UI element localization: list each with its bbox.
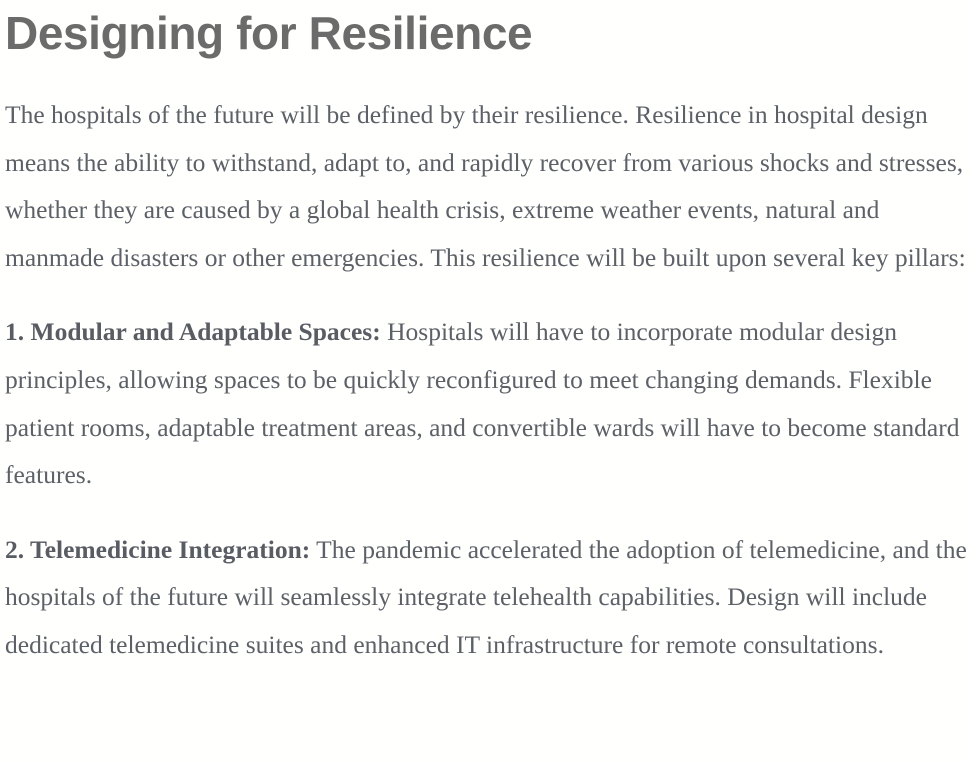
pillar-2-lead-in: 2. Telemedicine Integration: <box>5 535 310 564</box>
pillar-1-lead-in: 1. Modular and Adaptable Spaces: <box>5 317 381 346</box>
page-title: Designing for Resilience <box>5 0 967 62</box>
paragraph-pillar-1: 1. Modular and Adaptable Spaces: Hospita… <box>5 308 967 498</box>
paragraph-intro: The hospitals of the future will be defi… <box>5 91 967 281</box>
paragraph-intro-body: The hospitals of the future will be defi… <box>5 100 966 272</box>
paragraph-pillar-2: 2. Telemedicine Integration: The pandemi… <box>5 526 967 669</box>
article-content: Designing for Resilience The hospitals o… <box>0 0 971 669</box>
